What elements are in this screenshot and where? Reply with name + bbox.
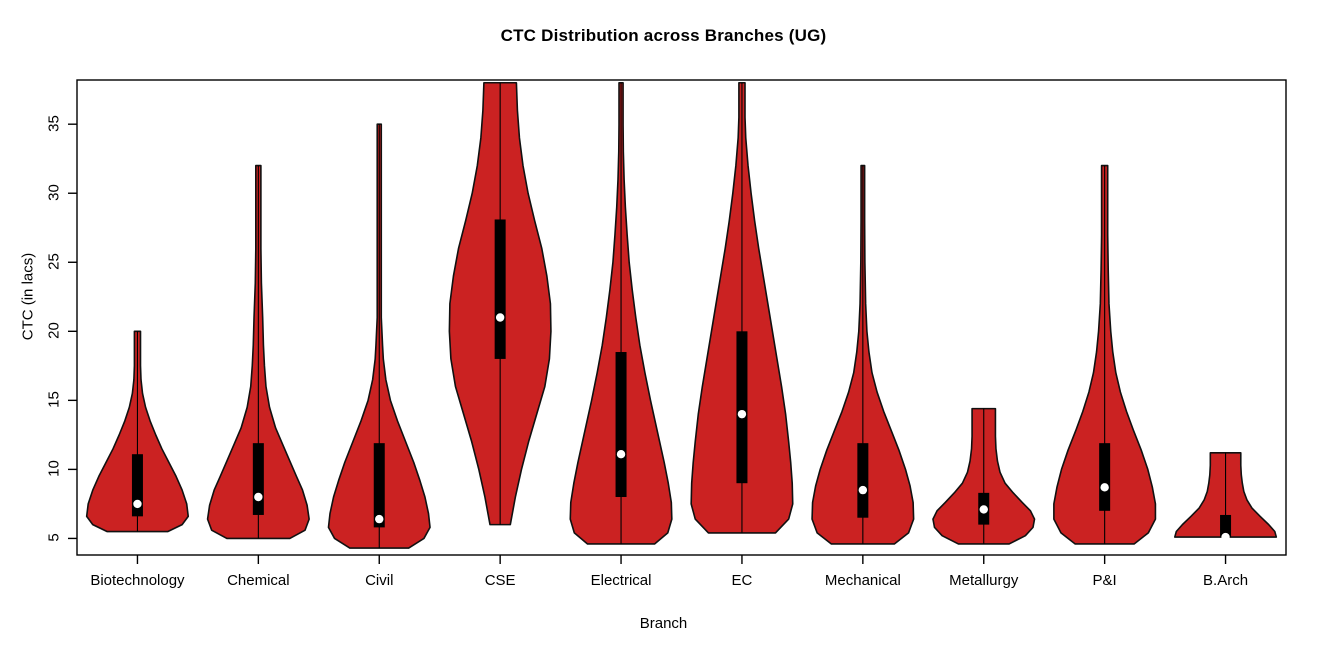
y-tick-label: 20	[46, 314, 63, 348]
iqr-box	[857, 443, 868, 518]
iqr-box	[495, 219, 506, 358]
y-tick-label: 35	[46, 107, 63, 141]
page-title: CTC Distribution across Branches (UG)	[0, 26, 1327, 46]
violin-b-arch	[1175, 453, 1277, 541]
x-tick-label-ec: EC	[732, 572, 753, 589]
median-dot	[617, 450, 625, 458]
plot-canvas	[0, 0, 1327, 653]
iqr-box	[616, 352, 627, 497]
x-tick-label-p-i: P&I	[1093, 572, 1117, 589]
median-dot	[133, 500, 141, 508]
violin-ec	[691, 83, 793, 533]
y-tick-label: 15	[46, 383, 63, 417]
violin-metallurgy	[933, 409, 1035, 544]
violin-cse	[449, 83, 551, 525]
y-tick-label: 30	[46, 176, 63, 210]
violin-civil	[328, 124, 430, 548]
x-tick-label-cse: CSE	[485, 572, 516, 589]
violin-electrical	[570, 83, 672, 544]
x-tick-label-civil: Civil	[365, 572, 393, 589]
y-tick-label: 25	[46, 245, 63, 279]
iqr-box	[374, 443, 385, 527]
y-axis-title: CTC (in lacs)	[20, 227, 37, 367]
violin-chemical	[208, 166, 310, 539]
x-tick-label-electrical: Electrical	[591, 572, 652, 589]
median-dot	[1100, 483, 1108, 491]
x-tick-label-chemical: Chemical	[227, 572, 290, 589]
y-tick-label: 5	[46, 521, 63, 555]
iqr-box	[253, 443, 264, 515]
x-tick-label-mechanical: Mechanical	[825, 572, 901, 589]
median-dot	[980, 505, 988, 513]
violin-mechanical	[812, 166, 914, 544]
violin-layer	[87, 83, 1277, 548]
violin-biotechnology	[87, 331, 189, 531]
violin-p-i	[1054, 166, 1156, 544]
median-dot	[375, 515, 383, 523]
x-tick-label-metallurgy: Metallurgy	[949, 572, 1018, 589]
median-dot	[254, 493, 262, 501]
x-tick-label-biotechnology: Biotechnology	[90, 572, 184, 589]
median-dot	[1221, 533, 1229, 541]
x-tick-label-b-arch: B.Arch	[1203, 572, 1248, 589]
x-axis-title: Branch	[0, 615, 1327, 632]
violin-chart: CTC Distribution across Branches (UG) CT…	[0, 0, 1327, 653]
median-dot	[496, 313, 504, 321]
y-tick-label: 10	[46, 452, 63, 486]
median-dot	[859, 486, 867, 494]
iqr-box	[736, 331, 747, 483]
median-dot	[738, 410, 746, 418]
iqr-box	[1099, 443, 1110, 511]
